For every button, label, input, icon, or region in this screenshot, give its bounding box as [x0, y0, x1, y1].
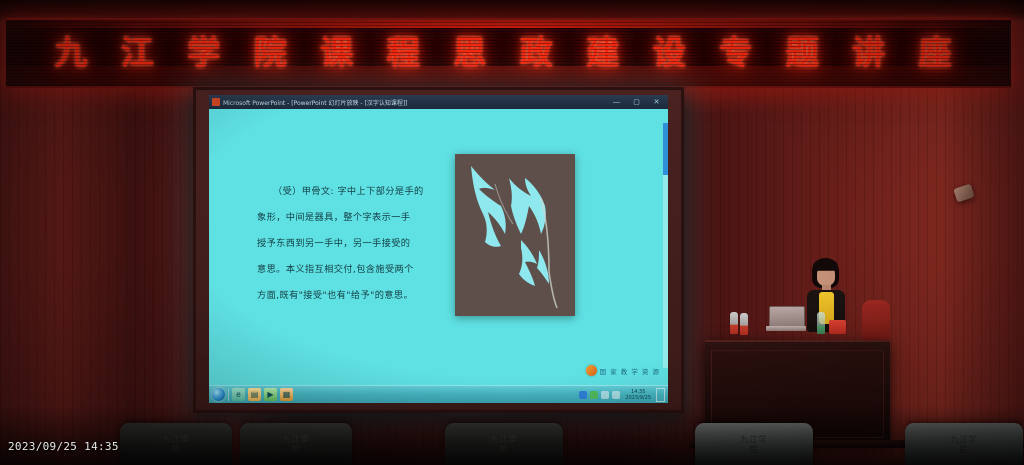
- oracle-bone-script-image: [455, 154, 575, 316]
- slide-scrollbar[interactable]: [663, 123, 668, 368]
- slide-body-text: （受）甲骨文: 字中上下部分是手的 象形，中间是器具，整个字表示一手 授予东西到…: [257, 179, 454, 309]
- folder-icon[interactable]: ▤: [248, 388, 261, 401]
- lecture-hall-photo: 九 江 学 院 课 程 思 政 建 设 专 题 讲 座 Microsoft Po…: [0, 0, 1024, 465]
- slide-logo-label: 国 家 教 学 资 源: [600, 366, 660, 376]
- document-icon[interactable]: ▦: [280, 388, 293, 401]
- presenter: [800, 258, 852, 348]
- volume-icon[interactable]: [590, 391, 598, 399]
- water-bottle: [817, 312, 825, 334]
- slide-text-line: （受）甲骨文: 字中上下部分是手的: [257, 179, 454, 205]
- windows-taskbar[interactable]: e ▤ ▶ ▦ 14:35 2023/9/25: [209, 385, 668, 403]
- taskbar-divider: [228, 389, 229, 401]
- water-bottle: [730, 312, 738, 334]
- clock-date: 2023/9/25: [625, 395, 651, 401]
- network-icon[interactable]: [579, 391, 587, 399]
- water-bottle: [740, 313, 748, 335]
- glasses-icon: [817, 270, 835, 275]
- laptop-screen: [769, 306, 805, 328]
- slide-text-line: 方面,既有"接受"也有"给予"的意思。: [257, 283, 454, 309]
- laptop: [766, 306, 806, 334]
- presenter-chair: [862, 300, 890, 340]
- close-icon[interactable]: ✕: [652, 98, 661, 107]
- projection-screen-surface: Microsoft PowerPoint - [PowerPoint 幻灯片放映…: [209, 95, 668, 403]
- minimize-icon[interactable]: —: [612, 98, 621, 107]
- slide-text-line: 授予东西到另一手中，另一手接受的: [257, 231, 454, 257]
- taskbar-clock[interactable]: 14:35 2023/9/25: [623, 389, 653, 401]
- powerpoint-window[interactable]: Microsoft PowerPoint - [PowerPoint 幻灯片放映…: [209, 95, 668, 403]
- slide-footer-logo: 国 家 教 学 资 源: [586, 365, 660, 376]
- slide-text-line: 象形，中间是器具，整个字表示一手: [257, 205, 454, 231]
- camera-timestamp: 2023/09/25 14:35: [8, 440, 119, 453]
- projection-screen-frame: Microsoft PowerPoint - [PowerPoint 幻灯片放映…: [193, 87, 684, 413]
- oracle-character-glyph: [455, 154, 575, 316]
- ime-icon[interactable]: [601, 391, 609, 399]
- browser-icon[interactable]: e: [232, 388, 245, 401]
- window-controls[interactable]: — ▢ ✕: [612, 98, 661, 107]
- floor-shadow: [0, 405, 1024, 465]
- slide-text-line: 意思。本义指互相交付,包含施受两个: [257, 257, 454, 283]
- laptop-keyboard: [766, 326, 806, 331]
- red-mug: [829, 320, 846, 334]
- slide-canvas[interactable]: （受）甲骨文: 字中上下部分是手的 象形，中间是器具，整个字表示一手 授予东西到…: [209, 109, 668, 385]
- scrollbar-thumb[interactable]: [663, 123, 668, 175]
- security-icon[interactable]: [612, 391, 620, 399]
- powerpoint-titlebar[interactable]: Microsoft PowerPoint - [PowerPoint 幻灯片放映…: [209, 95, 668, 109]
- course-logo-icon: [586, 365, 597, 376]
- system-tray[interactable]: 14:35 2023/9/25: [579, 388, 665, 402]
- show-desktop-button[interactable]: [656, 388, 665, 402]
- start-button-icon[interactable]: [212, 388, 225, 401]
- powerpoint-icon: [212, 98, 220, 106]
- window-title: Microsoft PowerPoint - [PowerPoint 幻灯片放映…: [223, 98, 612, 107]
- presenter-fringe: [813, 260, 838, 270]
- media-icon[interactable]: ▶: [264, 388, 277, 401]
- maximize-icon[interactable]: ▢: [632, 98, 641, 107]
